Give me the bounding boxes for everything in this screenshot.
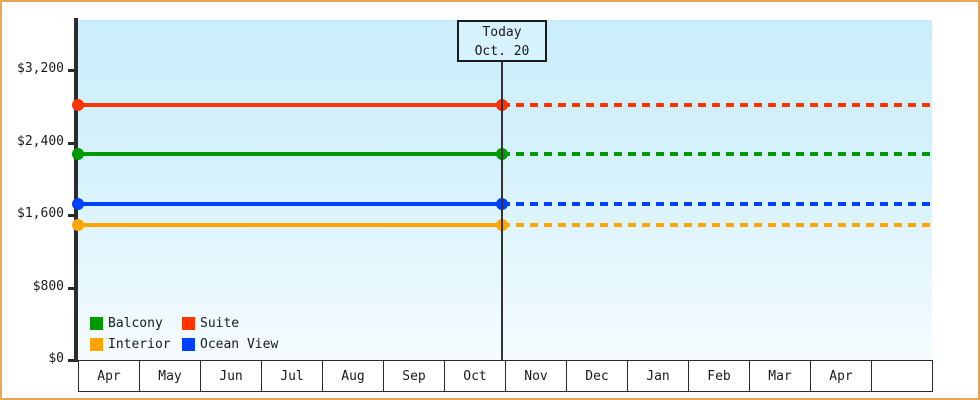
month-axis-row: AprMayJunJulAugSepOctNovDecJanFebMarApr: [79, 361, 933, 392]
today-marker-label: Today Oct. 20: [457, 20, 547, 62]
legend-swatch-icon: [90, 338, 103, 351]
legend-item-interior[interactable]: Interior: [90, 337, 182, 352]
series-line-solid-balcony: [78, 152, 502, 156]
chart-legend: BalconySuiteInteriorOcean View: [90, 313, 278, 355]
month-cell[interactable]: Apr: [79, 361, 140, 392]
series-line-solid-ocean-view: [78, 202, 502, 206]
legend-label: Interior: [108, 337, 171, 352]
legend-item-suite[interactable]: Suite: [182, 316, 278, 331]
series-point-balcony: [72, 148, 84, 160]
legend-swatch-icon: [182, 317, 195, 330]
month-cell[interactable]: Jul: [262, 361, 323, 392]
month-cell[interactable]: Dec: [567, 361, 628, 392]
month-cell[interactable]: Feb: [689, 361, 750, 392]
month-cell[interactable]: Jan: [628, 361, 689, 392]
y-axis-tick-label: $800: [33, 279, 64, 294]
month-cell[interactable]: Apr: [811, 361, 872, 392]
month-cell[interactable]: Jun: [201, 361, 262, 392]
series-line-solid-interior: [78, 223, 502, 227]
y-axis-tick-label: $0: [48, 351, 64, 366]
plot-area: [78, 20, 932, 360]
legend-label: Suite: [200, 316, 239, 331]
y-axis-tick-label: $3,200: [17, 61, 64, 76]
legend-swatch-icon: [182, 338, 195, 351]
y-axis-tick: [68, 142, 76, 145]
y-axis-tick: [68, 287, 76, 290]
legend-item-balcony[interactable]: Balcony: [90, 316, 182, 331]
legend-item-ocean-view[interactable]: Ocean View: [182, 337, 278, 352]
series-line-dashed-ocean-view: [502, 202, 932, 206]
month-cell[interactable]: Nov: [506, 361, 567, 392]
today-marker-line: [501, 20, 503, 360]
legend-label: Ocean View: [200, 337, 278, 352]
price-trend-chart: $0$800$1,600$2,400$3,200 Today Oct. 20 B…: [0, 0, 980, 400]
series-point-suite: [72, 99, 84, 111]
y-axis-tick: [68, 359, 76, 362]
series-line-dashed-suite: [502, 103, 932, 107]
month-cell[interactable]: May: [140, 361, 201, 392]
y-axis-tick: [68, 69, 76, 72]
series-line-solid-suite: [78, 103, 502, 107]
series-line-dashed-interior: [502, 223, 932, 227]
series-point-interior: [72, 219, 84, 231]
month-cell[interactable]: Oct: [445, 361, 506, 392]
legend-swatch-icon: [90, 317, 103, 330]
month-axis-table: AprMayJunJulAugSepOctNovDecJanFebMarApr: [78, 360, 933, 392]
series-line-dashed-balcony: [502, 152, 932, 156]
today-label-line2: Oct. 20: [459, 42, 545, 61]
month-cell[interactable]: Aug: [323, 361, 384, 392]
y-axis-tick-label: $1,600: [17, 206, 64, 221]
today-label-line1: Today: [459, 23, 545, 42]
month-cell-empty: [872, 361, 933, 392]
y-axis-tick-label: $2,400: [17, 134, 64, 149]
month-cell[interactable]: Sep: [384, 361, 445, 392]
legend-label: Balcony: [108, 316, 163, 331]
y-axis-tick: [68, 214, 76, 217]
month-cell[interactable]: Mar: [750, 361, 811, 392]
